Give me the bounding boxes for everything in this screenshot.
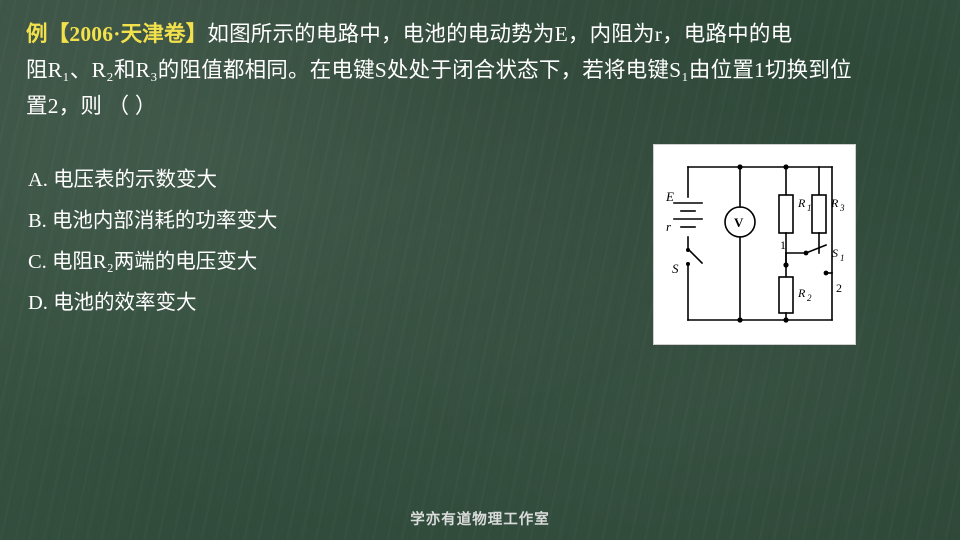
question-line-1-text: 如图所示的电路中，电池的电动势为E，内阻为r，电路中的电: [207, 22, 792, 46]
label-position-1: 1: [780, 238, 786, 252]
question-line-1: 例【2006·天津卷】如图所示的电路中，电池的电动势为E，内阻为r，电路中的电: [26, 16, 932, 52]
label-r3: R: [830, 196, 839, 210]
option-b[interactable]: B. 电池内部消耗的功率变大: [28, 201, 588, 242]
slide-page: 例【2006·天津卷】如图所示的电路中，电池的电动势为E，内阻为r，电路中的电 …: [0, 0, 960, 540]
question-line-2: 阻R₁、R₂和R₃的阻值都相同。在电键S处处于闭合状态下，若将电键S₁由位置1切…: [26, 52, 932, 88]
option-d-key: D.: [28, 292, 48, 314]
option-b-key: B.: [28, 210, 47, 232]
option-c-text: 电阻R₂两端的电压变大: [52, 251, 257, 273]
option-a-key: A.: [28, 169, 48, 191]
option-a[interactable]: A. 电压表的示数变大: [28, 160, 588, 201]
label-voltmeter: V: [734, 215, 744, 230]
option-d[interactable]: D. 电池的效率变大: [28, 283, 588, 324]
label-emf: E: [665, 189, 674, 204]
label-r1: R: [797, 196, 806, 210]
label-r2: R: [797, 286, 806, 300]
label-switch-s1: S: [832, 246, 838, 260]
question-stem: 例【2006·天津卷】如图所示的电路中，电池的电动势为E，内阻为r，电路中的电 …: [26, 16, 932, 124]
svg-text:1: 1: [840, 253, 845, 263]
question-source-label: 例【2006·天津卷】: [26, 22, 207, 46]
option-d-text: 电池的效率变大: [53, 292, 197, 314]
watermark: 学亦有道物理工作室: [0, 508, 960, 529]
label-position-2: 2: [836, 281, 842, 295]
option-list: A. 电压表的示数变大 B. 电池内部消耗的功率变大 C. 电阻R₂两端的电压变…: [28, 160, 588, 324]
circuit-diagram: E r S V R 1 R 2 R 3 1 2 S 1: [653, 144, 856, 345]
svg-text:1: 1: [807, 203, 812, 213]
option-c-key: C.: [28, 251, 47, 273]
option-b-text: 电池内部消耗的功率变大: [52, 210, 278, 232]
option-a-text: 电压表的示数变大: [53, 169, 217, 191]
svg-text:3: 3: [839, 203, 845, 213]
question-line-3: 置2，则 （ ）: [26, 88, 932, 124]
svg-text:2: 2: [807, 293, 812, 303]
label-switch-s: S: [672, 261, 679, 276]
option-c[interactable]: C. 电阻R₂两端的电压变大: [28, 242, 588, 283]
